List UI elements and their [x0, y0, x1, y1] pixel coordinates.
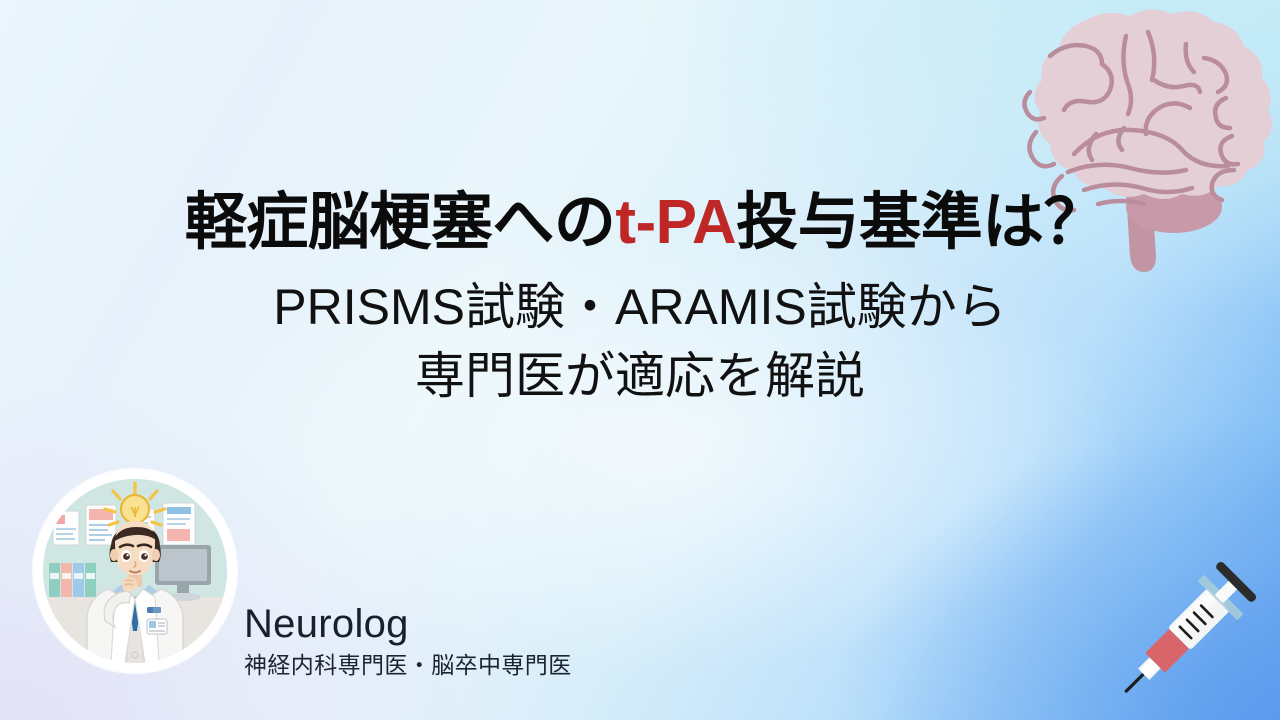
subtitle-line-1: PRISMS試験・ARAMIS試験から: [0, 273, 1280, 342]
title-block: 軽症脳梗塞へのt-PA投与基準は？ PRISMS試験・ARAMIS試験から 専門…: [0, 186, 1280, 411]
subtitle-line-2: 専門医が適応を解説: [0, 342, 1280, 411]
title-accent-tpa: t-PA: [615, 188, 736, 257]
brand-credentials: 神経内科専門医・脳卒中専門医: [244, 653, 572, 678]
brand-lockup: Neurolog 神経内科専門医・脳卒中専門医: [244, 604, 572, 678]
page-title: 軽症脳梗塞へのt-PA投与基準は？: [0, 186, 1280, 259]
presentation-slide: 軽症脳梗塞へのt-PA投与基準は？ PRISMS試験・ARAMIS試験から 専門…: [0, 0, 1280, 720]
avatar: [34, 470, 236, 672]
title-part-after: 投与基準は？: [736, 188, 1105, 257]
title-part-before: 軽症脳梗塞への: [185, 188, 616, 257]
brand-name: Neurolog: [244, 604, 572, 644]
syringe-icon: [1094, 552, 1270, 720]
avatar-image: [43, 479, 227, 663]
